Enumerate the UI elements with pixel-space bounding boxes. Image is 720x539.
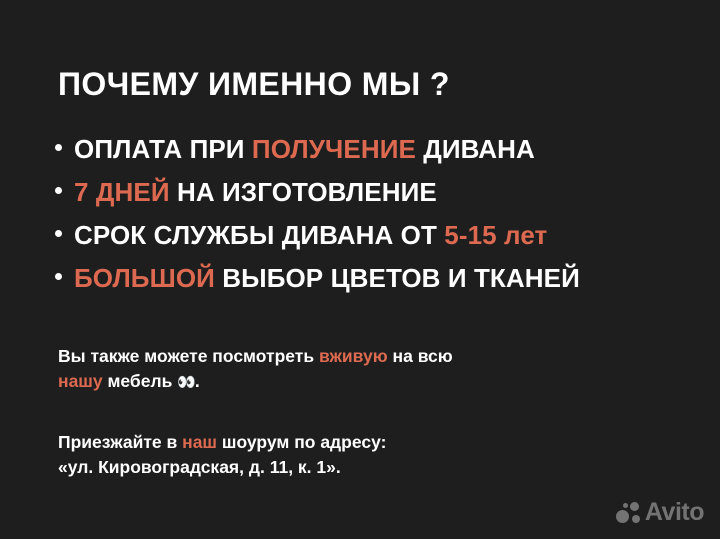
live-line-2-run-2: 👀 [177, 373, 195, 391]
address-line-1-run-0: Приезжайте в [58, 432, 182, 452]
live-line-2: нашу мебель 👀. [58, 369, 453, 395]
benefit-1-run-0: 7 ДНЕЙ [74, 177, 170, 207]
benefit-0-run-1: ПОЛУЧЕНИЕ [252, 134, 416, 164]
benefit-3-run-0: БОЛЬШОЙ [74, 263, 215, 293]
bullet-dot-icon [55, 273, 62, 280]
benefit-2-run-0: СРОК СЛУЖБЫ ДИВАНА ОТ [74, 220, 444, 250]
list-item-label: 7 ДНЕЙ НА ИЗГОТОВЛЕНИЕ [74, 179, 437, 205]
list-item: СРОК СЛУЖБЫ ДИВАНА ОТ 5-15 лет [55, 222, 580, 265]
bullet-dot-icon [55, 144, 62, 151]
page-title: ПОЧЕМУ ИМЕННО МЫ ? [58, 67, 450, 102]
list-item-label: СРОК СЛУЖБЫ ДИВАНА ОТ 5-15 лет [74, 222, 547, 248]
live-line-1-run-2: на всю [388, 346, 453, 366]
live-line-1: Вы также можете посмотреть вживую на всю [58, 344, 453, 369]
benefit-0-run-2: ДИВАНА [416, 134, 535, 164]
live-line-1-run-1: вживую [319, 346, 388, 366]
avito-watermark: Avito [616, 500, 704, 525]
benefits-list: ОПЛАТА ПРИ ПОЛУЧЕНИЕ ДИВАНА7 ДНЕЙ НА ИЗГ… [55, 136, 580, 308]
benefit-1-run-1: НА ИЗГОТОВЛЕНИЕ [170, 177, 437, 207]
list-item: ОПЛАТА ПРИ ПОЛУЧЕНИЕ ДИВАНА [55, 136, 580, 179]
benefit-0-run-0: ОПЛАТА ПРИ [74, 134, 252, 164]
list-item: БОЛЬШОЙ ВЫБОР ЦВЕТОВ И ТКАНЕЙ [55, 265, 580, 308]
address-line-1-run-2: шоурум по адресу: [217, 432, 386, 452]
live-line-2-run-0: нашу [58, 371, 103, 391]
live-line-2-run-3: . [195, 371, 200, 391]
list-item-label: БОЛЬШОЙ ВЫБОР ЦВЕТОВ И ТКАНЕЙ [74, 265, 580, 291]
bullet-dot-icon [55, 230, 62, 237]
avito-wordmark: Avito [645, 500, 704, 525]
promo-poster: ПОЧЕМУ ИМЕННО МЫ ? ОПЛАТА ПРИ ПОЛУЧЕНИЕ … [0, 0, 720, 539]
address-line-1-run-1: наш [182, 432, 217, 452]
list-item-label: ОПЛАТА ПРИ ПОЛУЧЕНИЕ ДИВАНА [74, 136, 535, 162]
benefit-3-run-1: ВЫБОР ЦВЕТОВ И ТКАНЕЙ [215, 263, 580, 293]
address-line-2-run-0: «ул. Кировоградская, д. 11, к. 1». [58, 457, 341, 477]
address-line-2: «ул. Кировоградская, д. 11, к. 1». [58, 455, 386, 480]
showroom-address-paragraph: Приезжайте в наш шоурум по адресу:«ул. К… [58, 430, 386, 480]
benefit-2-run-1: 5-15 лет [444, 220, 547, 250]
live-line-2-run-1: мебель [103, 371, 178, 391]
live-line-1-run-0: Вы также можете посмотреть [58, 346, 319, 366]
bullet-dot-icon [55, 187, 62, 194]
list-item: 7 ДНЕЙ НА ИЗГОТОВЛЕНИЕ [55, 179, 580, 222]
address-line-1: Приезжайте в наш шоурум по адресу: [58, 430, 386, 455]
avito-logo-icon [616, 502, 642, 524]
live-view-paragraph: Вы также можете посмотреть вживую на всю… [58, 344, 453, 395]
